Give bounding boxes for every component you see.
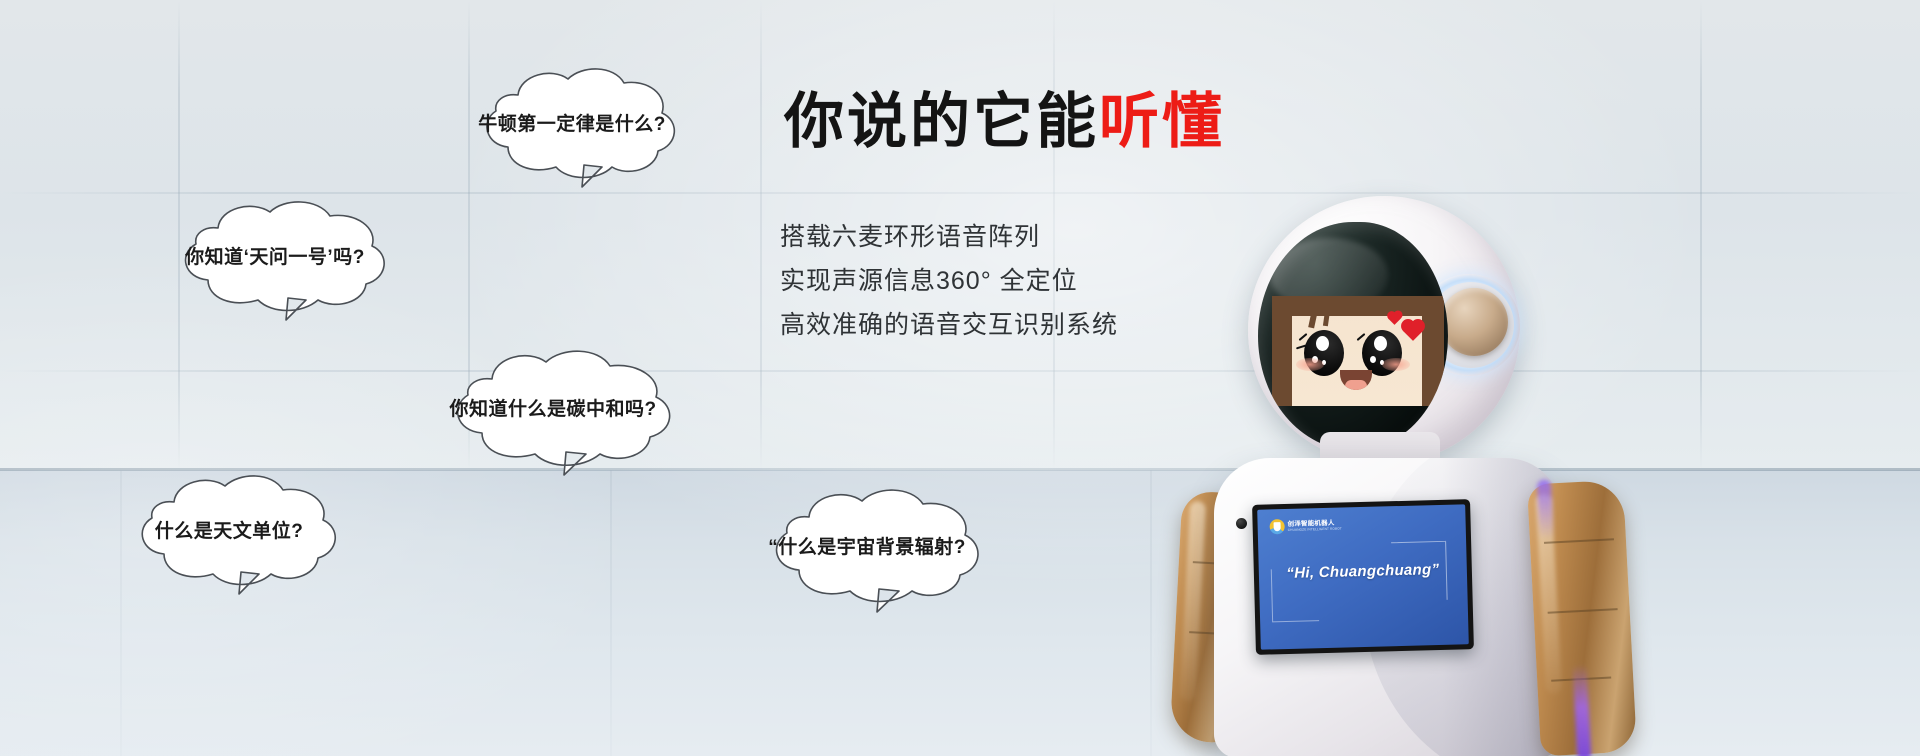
brand-logo: 创泽智能机器人 CHUANGZE INTELLIGENT ROBOT <box>1269 518 1341 535</box>
arm-seam <box>1544 538 1614 544</box>
headline-accent-text: 听懂 <box>1099 88 1225 155</box>
eye-highlight <box>1374 336 1387 351</box>
tablet-screen-content: 创泽智能机器人 CHUANGZE INTELLIGENT ROBOT “Hi, … <box>1257 504 1469 649</box>
bubble-text: 牛顿第一定律是什么? <box>478 109 666 136</box>
robot-camera-icon <box>1236 518 1247 529</box>
speech-bubble-cmb: “什么是宇宙背景辐射? <box>742 484 992 614</box>
face-bang <box>1323 310 1330 327</box>
face-hair <box>1272 296 1444 316</box>
ear-disc <box>1440 288 1508 356</box>
mouth-icon <box>1340 370 1372 390</box>
eye-highlight <box>1370 356 1376 363</box>
ear-disc-inner <box>1452 299 1496 343</box>
robot-visor <box>1258 222 1448 450</box>
feature-line-2: 实现声源信息360° 全定位 <box>780 259 1118 303</box>
logo-text: 创泽智能机器人 CHUANGZE INTELLIGENT ROBOT <box>1288 520 1342 532</box>
robot-head <box>1248 196 1520 464</box>
wall-grid-line <box>1700 0 1702 470</box>
speech-bubble-carbon: 你知道什么是碳中和吗? <box>422 345 684 477</box>
arm-highlight <box>1180 501 1206 702</box>
heart-icon <box>1403 321 1423 341</box>
robot-face-display <box>1272 296 1444 406</box>
logo-mark-icon <box>1269 519 1284 534</box>
wall-grid-line <box>0 192 1920 194</box>
bubble-text: “什么是宇宙背景辐射? <box>768 532 966 559</box>
feature-line-3: 高效准确的语音交互识别系统 <box>780 303 1118 347</box>
speech-bubble-tianwen: 你知道‘天问一号’吗? <box>152 196 398 322</box>
face-hair-right <box>1422 296 1444 406</box>
eye-highlight <box>1316 336 1329 351</box>
page-title: 你说的它能听懂 <box>784 92 1225 152</box>
wall-grid-line <box>760 0 762 470</box>
blush-left <box>1296 358 1324 371</box>
heart-icon <box>1388 312 1401 325</box>
promo-banner: 你说的它能听懂 搭载六麦环形语音阵列 实现声源信息360° 全定位 高效准确的语… <box>0 0 1920 756</box>
feature-line-1: 搭载六麦环形语音阵列 <box>780 215 1118 259</box>
arm-seam <box>1548 608 1618 614</box>
logo-text-en: CHUANGZE INTELLIGENT ROBOT <box>1288 527 1342 532</box>
speech-bubble-astronomical-unit: 什么是天文单位? <box>110 470 348 596</box>
tongue <box>1345 380 1367 390</box>
robot-arm-right <box>1527 480 1637 756</box>
bubble-text: 什么是天文单位? <box>155 516 304 543</box>
feature-list: 搭载六麦环形语音阵列 实现声源信息360° 全定位 高效准确的语音交互识别系统 <box>780 215 1118 347</box>
speech-bubble-newton: 牛顿第一定律是什么? <box>456 63 688 189</box>
arm-led-glow <box>1537 479 1554 540</box>
robot-figure: 创泽智能机器人 CHUANGZE INTELLIGENT ROBOT “Hi, … <box>1130 196 1690 756</box>
robot-tablet-screen[interactable]: 创泽智能机器人 CHUANGZE INTELLIGENT ROBOT “Hi, … <box>1252 499 1474 655</box>
bubble-text: 你知道什么是碳中和吗? <box>449 394 656 421</box>
blush-right <box>1382 358 1410 371</box>
bubble-text: 你知道‘天问一号’吗? <box>185 242 365 269</box>
headline-black-text: 你说的它能 <box>784 88 1099 155</box>
face-hair-left <box>1272 296 1292 406</box>
floor-grid-line <box>610 470 612 756</box>
